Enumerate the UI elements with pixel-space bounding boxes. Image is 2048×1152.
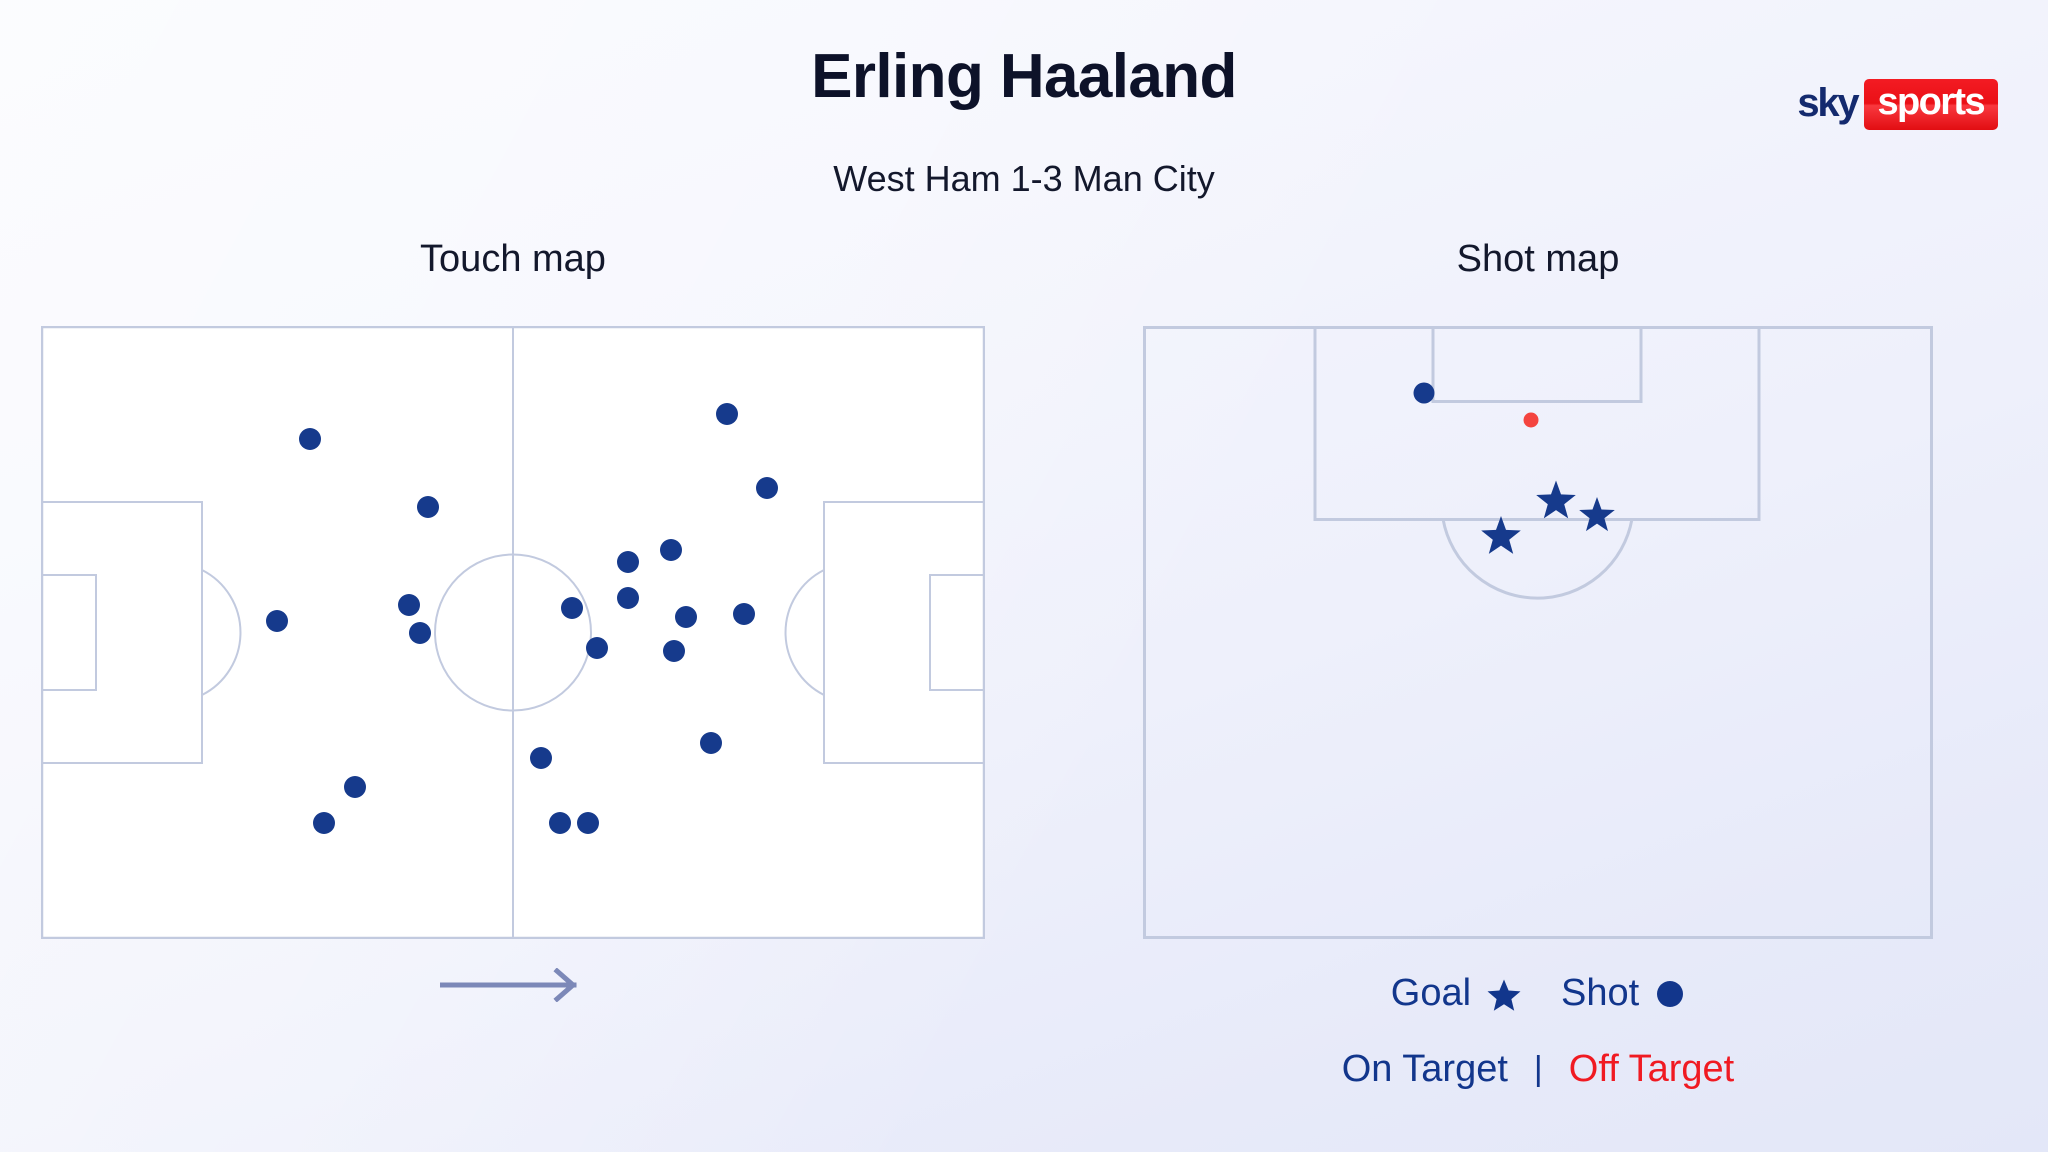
legend-row-marker-types: Goal Shot bbox=[1143, 972, 1933, 1015]
attack-direction-arrow bbox=[440, 968, 590, 1002]
match-subtitle: West Ham 1-3 Man City bbox=[0, 158, 2048, 200]
touch-point bbox=[561, 597, 583, 619]
shot-map-heading: Shot map bbox=[1143, 238, 1933, 281]
logo-sports-wordmark: sports bbox=[1864, 79, 1998, 130]
legend-off-target-label: Off Target bbox=[1569, 1048, 1734, 1091]
goal-marker bbox=[1579, 497, 1615, 531]
touch-point bbox=[344, 776, 366, 798]
sky-sports-logo: sky sports bbox=[1797, 82, 1998, 126]
legend-goal-label: Goal bbox=[1391, 972, 1471, 1015]
touch-point bbox=[398, 594, 420, 616]
shot-on-target-marker bbox=[1414, 383, 1435, 404]
touch-point bbox=[733, 603, 755, 625]
touch-point bbox=[756, 477, 778, 499]
touch-point bbox=[660, 539, 682, 561]
shot-off-target-marker bbox=[1524, 413, 1539, 428]
touch-point bbox=[617, 587, 639, 609]
touch-point bbox=[549, 812, 571, 834]
logo-sky-wordmark: sky bbox=[1797, 83, 1864, 123]
touch-point bbox=[716, 403, 738, 425]
goal-marker bbox=[1481, 516, 1521, 554]
legend-shot: Shot bbox=[1561, 972, 1685, 1015]
touch-point bbox=[299, 428, 321, 450]
touch-point bbox=[313, 812, 335, 834]
touch-point bbox=[577, 812, 599, 834]
legend-on-target-label: On Target bbox=[1342, 1048, 1508, 1091]
touch-point bbox=[617, 551, 639, 573]
star-icon bbox=[1487, 977, 1521, 1011]
touch-map-pitch bbox=[41, 326, 985, 939]
touch-point bbox=[700, 732, 722, 754]
touch-point bbox=[417, 496, 439, 518]
touch-point bbox=[530, 747, 552, 769]
circle-icon bbox=[1655, 979, 1685, 1009]
page-title: Erling Haaland bbox=[0, 44, 2048, 109]
legend-goal: Goal bbox=[1391, 972, 1521, 1015]
touch-point bbox=[586, 637, 608, 659]
touch-point bbox=[663, 640, 685, 662]
touch-point bbox=[409, 622, 431, 644]
touch-point bbox=[675, 606, 697, 628]
legend-separator: | bbox=[1508, 1050, 1569, 1089]
pitch-markings bbox=[1315, 328, 1759, 599]
legend-shot-label: Shot bbox=[1561, 972, 1639, 1015]
touch-point bbox=[266, 610, 288, 632]
goal-marker bbox=[1536, 481, 1576, 519]
legend-row-outcomes: On Target | Off Target bbox=[1143, 1048, 1933, 1091]
shot-map-pitch bbox=[1143, 326, 1933, 939]
touch-map-heading: Touch map bbox=[41, 238, 985, 281]
